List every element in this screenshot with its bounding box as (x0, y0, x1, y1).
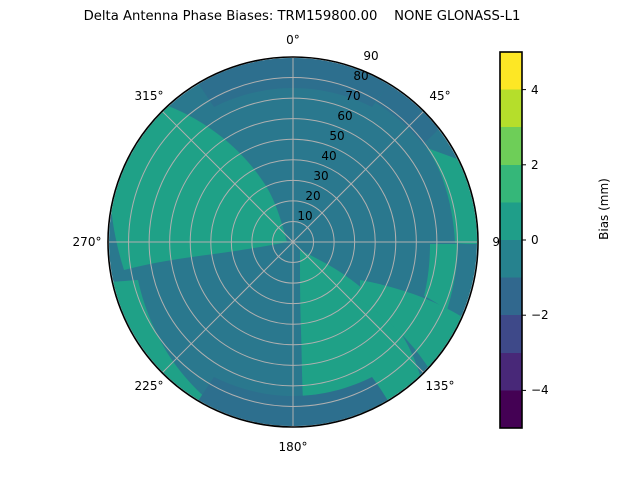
colorbar-axis-label: Bias (mm) (597, 139, 611, 279)
colorbar-tick-0: 0 (531, 233, 539, 247)
colorbar: 4 2 0 −2 −4 (0, 0, 640, 480)
colorbar-tick-2: 2 (531, 158, 539, 172)
colorbar-tick-neg2: −2 (531, 308, 549, 322)
colorbar-tick-4: 4 (531, 83, 539, 97)
colorbar-gradient (500, 52, 522, 428)
figure-canvas: Delta Antenna Phase Biases: TRM159800.00… (0, 0, 640, 480)
colorbar-tick-labels: 4 2 0 −2 −4 (531, 83, 549, 397)
colorbar-tick-neg4: −4 (531, 383, 549, 397)
